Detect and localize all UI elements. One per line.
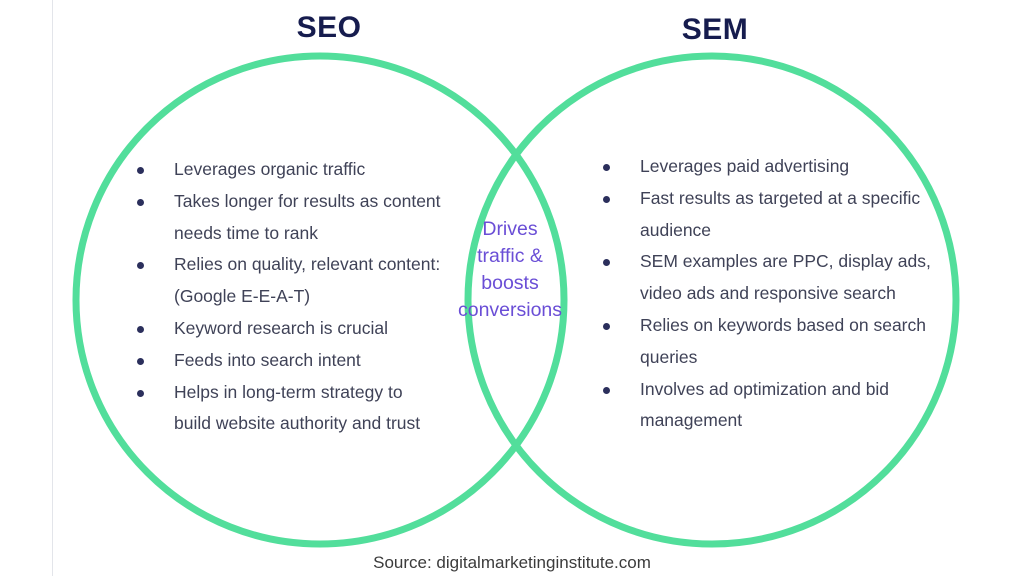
list-item: SEM examples are PPC, display ads, video… xyxy=(603,246,933,310)
bullet-icon xyxy=(137,326,144,333)
list-item-label: SEM examples are PPC, display ads, video… xyxy=(640,246,933,310)
list-item-label: Leverages paid advertising xyxy=(640,151,933,183)
list-item: Relies on keywords based on search queri… xyxy=(603,310,933,374)
bullet-icon xyxy=(137,167,144,174)
bullet-icon xyxy=(603,259,610,266)
venn-title-seo: SEO xyxy=(297,11,362,45)
list-item: Feeds into search intent xyxy=(137,345,442,377)
list-item: Fast results as targeted at a specific a… xyxy=(603,183,933,247)
venn-overlap-text: Drives traffic & boosts conversions xyxy=(441,216,579,324)
bullet-icon xyxy=(137,262,144,269)
bullet-icon xyxy=(603,196,610,203)
bullet-icon xyxy=(603,323,610,330)
venn-diagram-canvas: SEO SEM Leverages organic traffic Takes … xyxy=(0,0,1024,576)
list-item: Leverages organic traffic xyxy=(137,154,442,186)
bullet-icon xyxy=(137,358,144,365)
list-item: Takes longer for results as content need… xyxy=(137,186,442,250)
list-item-label: Leverages organic traffic xyxy=(174,154,442,186)
list-item: Leverages paid advertising xyxy=(603,151,933,183)
bullet-icon xyxy=(137,199,144,206)
list-item-label: Takes longer for results as content need… xyxy=(174,186,442,250)
overlap-line: Drives xyxy=(441,216,579,243)
list-item-label: Feeds into search intent xyxy=(174,345,442,377)
bullet-icon xyxy=(137,390,144,397)
list-item-label: Relies on keywords based on search queri… xyxy=(640,310,933,374)
list-item: Keyword research is crucial xyxy=(137,313,442,345)
list-item-label: Fast results as targeted at a specific a… xyxy=(640,183,933,247)
list-item: Involves ad optimization and bid managem… xyxy=(603,374,933,438)
overlap-line: conversions xyxy=(441,297,579,324)
list-item-label: Relies on quality, relevant content: (Go… xyxy=(174,249,442,313)
overlap-line: boosts xyxy=(441,270,579,297)
list-item-label: Helps in long-term strategy to build web… xyxy=(174,377,442,441)
list-item: Relies on quality, relevant content: (Go… xyxy=(137,249,442,313)
venn-title-sem: SEM xyxy=(682,13,749,47)
list-item-label: Involves ad optimization and bid managem… xyxy=(640,374,933,438)
bullet-icon xyxy=(603,387,610,394)
bullet-icon xyxy=(603,164,610,171)
venn-list-sem: Leverages paid advertising Fast results … xyxy=(603,151,933,437)
venn-list-seo: Leverages organic traffic Takes longer f… xyxy=(137,154,442,440)
overlap-line: traffic & xyxy=(441,243,579,270)
list-item-label: Keyword research is crucial xyxy=(174,313,442,345)
source-caption: Source: digitalmarketinginstitute.com xyxy=(373,553,651,573)
list-item: Helps in long-term strategy to build web… xyxy=(137,377,442,441)
